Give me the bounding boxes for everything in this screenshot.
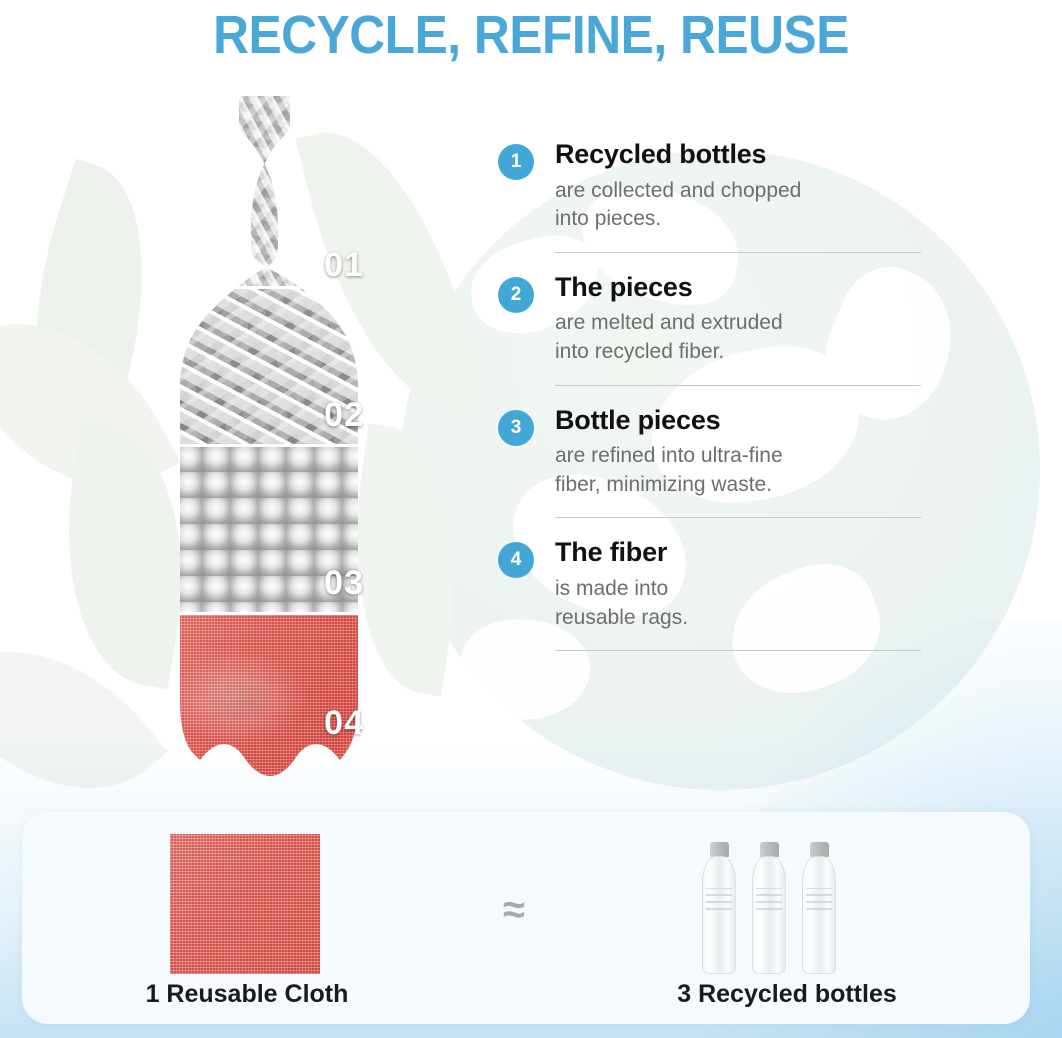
band-separator [118, 444, 386, 447]
step-number-badge-1: 1 [498, 144, 534, 180]
bottle-band-number-01: 01 [324, 246, 364, 285]
recycled-bottles-illustration [698, 828, 848, 978]
bottle-band-number-03: 03 [324, 564, 364, 603]
process-step-2: 2 The pieces are melted and extruded int… [498, 273, 928, 386]
process-step-list: 1 Recycled bottles are collected and cho… [498, 140, 928, 651]
mini-bottle [700, 842, 738, 974]
bottle-cap-icon [810, 842, 829, 857]
recycled-bottles-label: 3 Recycled bottles [622, 980, 952, 1009]
mini-bottle [800, 842, 838, 974]
bottle-grip-rings [806, 888, 832, 910]
process-step-4: 4 The fiber is made into reusable rags. [498, 538, 928, 651]
band-separator [118, 612, 386, 615]
infographic-page: RECYCLE, REFINE, REUSE [0, 0, 1062, 1038]
step-text-4: is made into reusable rags. [555, 575, 928, 632]
step-text-1: are collected and chopped into pieces. [555, 177, 928, 234]
step-title-3: Bottle pieces [555, 406, 928, 436]
bottle-band-number-04: 04 [324, 704, 364, 743]
bottle-body [752, 856, 786, 974]
step-divider [555, 385, 921, 386]
bottle-process-diagram: 01 02 03 04 [118, 96, 386, 796]
step-text-3: are refined into ultra-fine fiber, minim… [555, 442, 928, 499]
step-text-2: are melted and extruded into recycled fi… [555, 309, 928, 366]
step-title-4: The fiber [555, 538, 928, 568]
band-separator [118, 286, 386, 289]
process-step-1: 1 Recycled bottles are collected and cho… [498, 140, 928, 253]
step-divider [555, 252, 921, 253]
reusable-cloth-label: 1 Reusable Cloth [82, 980, 412, 1009]
bottle-cap-icon [710, 842, 729, 857]
bottle-grip-rings [756, 888, 782, 910]
page-title: RECYCLE, REFINE, REUSE [42, 4, 1019, 66]
bottle-band-number-02: 02 [324, 396, 364, 435]
step-title-2: The pieces [555, 273, 928, 303]
equivalence-card: ≈ 1 Reusable Cloth 3 Recycled bottles [22, 812, 1030, 1024]
approximately-equal-icon: ≈ [484, 890, 544, 930]
step-title-1: Recycled bottles [555, 140, 928, 170]
step-number-badge-4: 4 [498, 542, 534, 578]
bottle-grip-rings [706, 888, 732, 910]
reusable-cloth-swatch [170, 834, 320, 974]
bottle-body [702, 856, 736, 974]
mini-bottle [750, 842, 788, 974]
bottle-body [802, 856, 836, 974]
step-number-badge-2: 2 [498, 277, 534, 313]
step-divider [555, 517, 921, 518]
step-number-badge-3: 3 [498, 410, 534, 446]
step-divider [555, 650, 921, 651]
bottle-cap-icon [760, 842, 779, 857]
process-step-3: 3 Bottle pieces are refined into ultra-f… [498, 406, 928, 519]
